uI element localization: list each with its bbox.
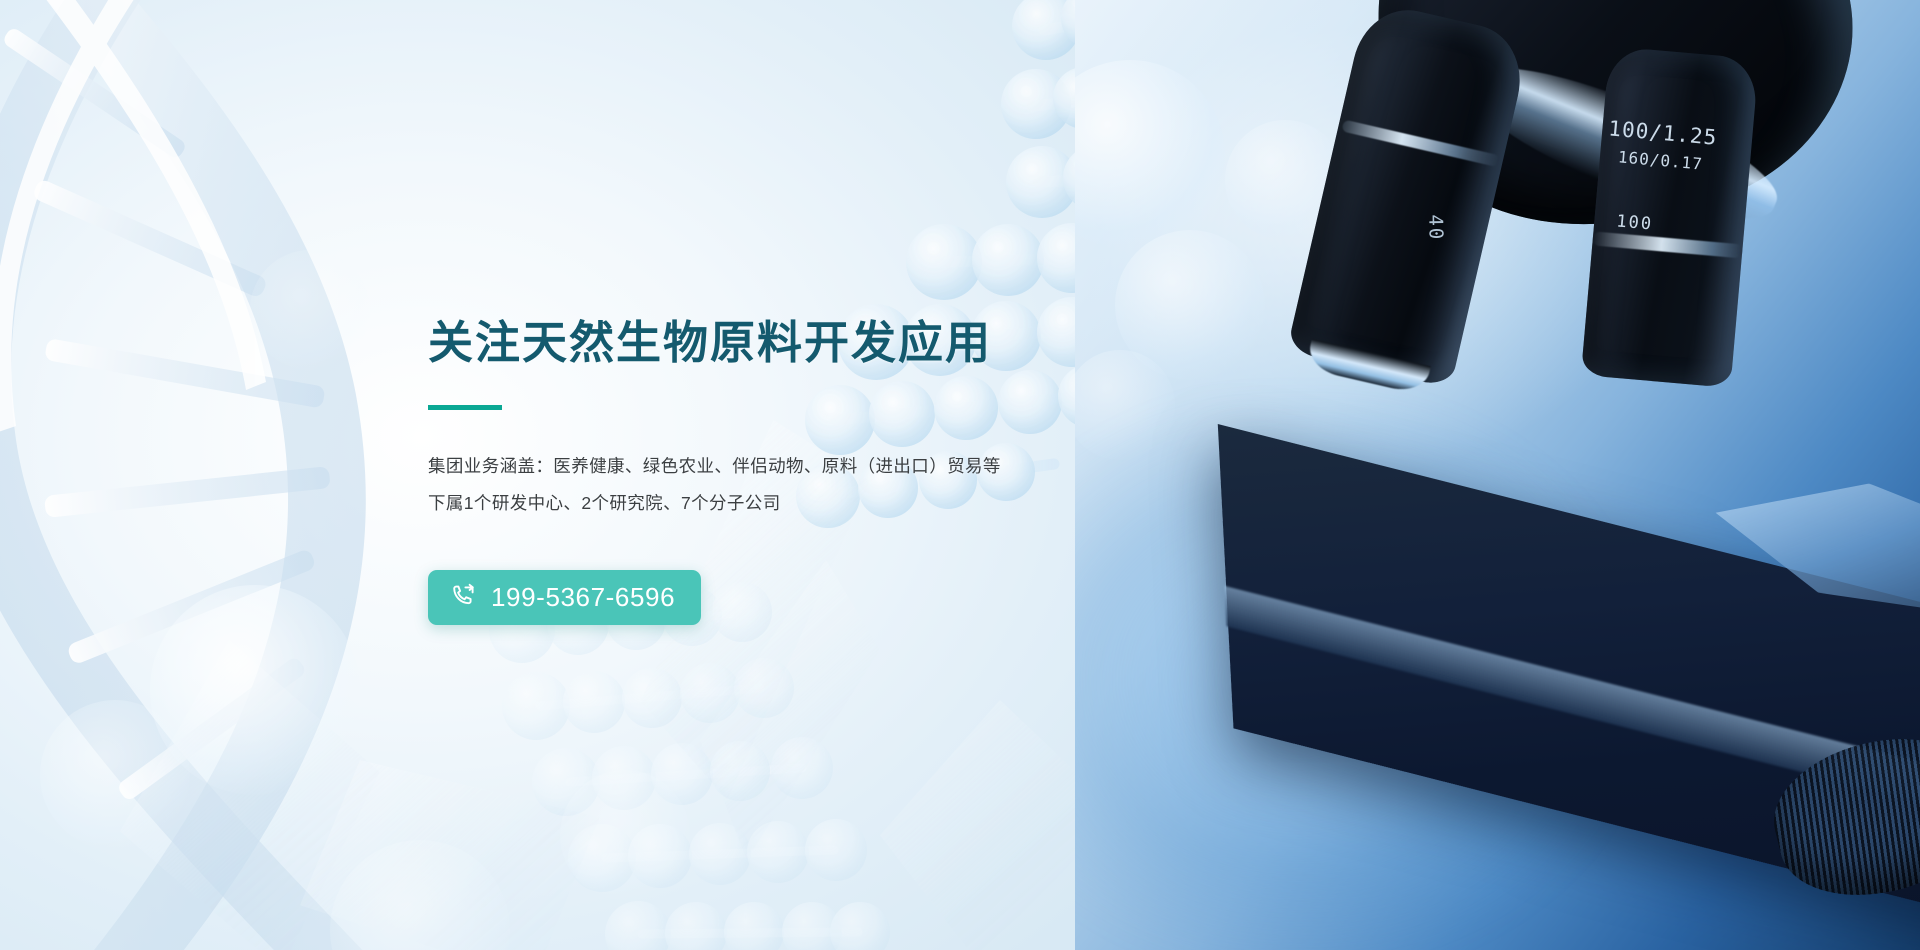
title-divider — [428, 405, 502, 410]
hero-content: 关注天然生物原料开发应用 集团业务涵盖：医养健康、绿色农业、伴侣动物、原料（进出… — [428, 316, 1208, 625]
objective-100-tubelength-label: 160/0.17 — [1617, 147, 1703, 173]
microscope-stage-clip — [1711, 449, 1920, 642]
hero-subtitle: 集团业务涵盖：医养健康、绿色农业、伴侣动物、原料（进出口）贸易等 下属1个研发中… — [428, 448, 1208, 522]
phone-forward-icon — [450, 583, 478, 611]
phone-number-label: 199-5367-6596 — [491, 582, 675, 613]
objective-100-aperture-label: 100/1.25 — [1607, 116, 1718, 149]
microscope-turret — [1333, 0, 1888, 267]
objective-100-magnification-label: 100 — [1616, 211, 1654, 234]
microscope-objective-100x: 100/1.25 160/0.17 100 — [1581, 46, 1759, 388]
subtitle-line-1: 集团业务涵盖：医养健康、绿色农业、伴侣动物、原料（进出口）贸易等 — [428, 448, 1208, 485]
objective-40-magnification-label: 40 — [1424, 214, 1446, 241]
microscope-focus-knob — [1760, 719, 1920, 915]
subtitle-line-2: 下属1个研发中心、2个研究院、7个分子公司 — [428, 485, 1208, 522]
microscope-stage-edge — [1225, 586, 1920, 854]
microscope-turret-ring — [1453, 41, 1791, 244]
microscope-stage — [1218, 424, 1920, 950]
page-title: 关注天然生物原料开发应用 — [428, 316, 1208, 369]
phone-cta-button[interactable]: 199-5367-6596 — [428, 570, 701, 625]
microscope-objective-40x: 40 — [1287, 0, 1532, 388]
hero-banner: 40 100/1.25 160/0.17 100 关注天然生物原料开发应用 集团… — [0, 0, 1920, 950]
